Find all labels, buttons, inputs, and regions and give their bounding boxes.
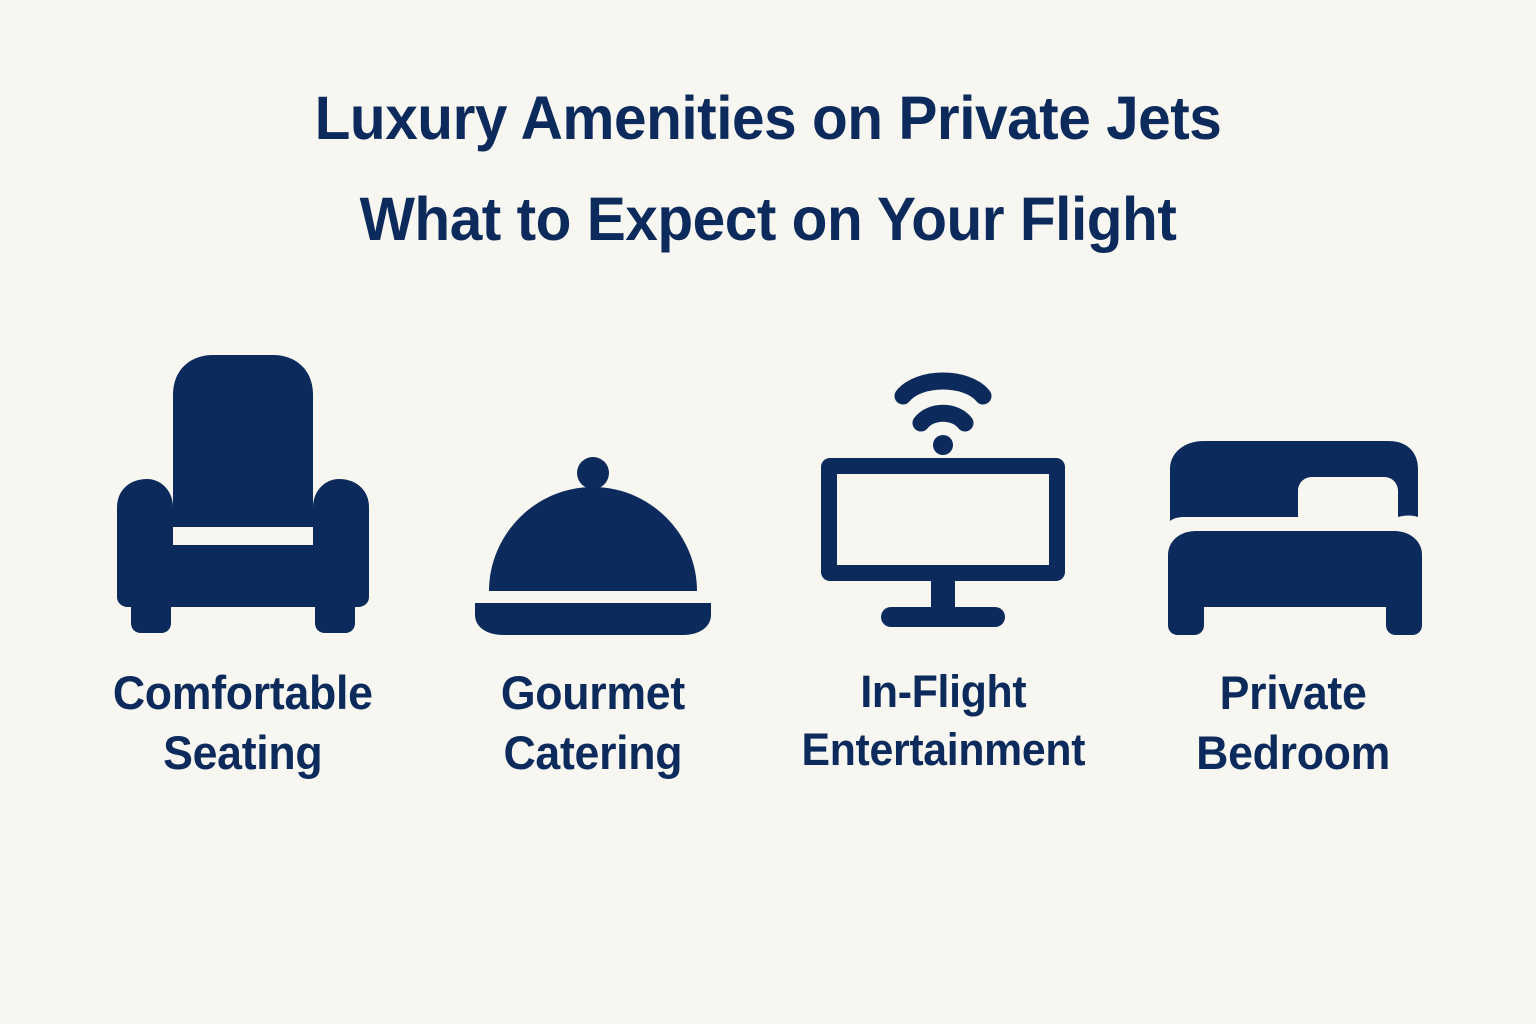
monitor-wifi-icon: [778, 335, 1108, 635]
amenity-label-gourmet-catering: Gourmet Catering: [501, 663, 685, 783]
cloche-food-dome-icon: [428, 335, 758, 635]
amenity-item-gourmet-catering: Gourmet Catering: [428, 335, 758, 783]
amenity-label-comfortable-seating: Comfortable Seating: [113, 663, 373, 783]
amenity-item-in-flight-entertainment: In-Flight Entertainment: [778, 335, 1108, 778]
amenity-item-private-bedroom: Private Bedroom: [1128, 335, 1458, 783]
page-title: Luxury Amenities on Private Jets What to…: [0, 0, 1536, 250]
amenity-label-private-bedroom: Private Bedroom: [1196, 663, 1390, 783]
infographic-root: Luxury Amenities on Private Jets What to…: [0, 0, 1536, 1024]
armchair-icon: [78, 335, 408, 635]
amenity-item-comfortable-seating: Comfortable Seating: [78, 335, 408, 783]
bed-icon: [1128, 335, 1458, 635]
amenities-row: Comfortable Seating Gourmet Catering: [78, 335, 1458, 783]
amenity-label-in-flight-entertainment: In-Flight Entertainment: [801, 663, 1085, 778]
title-line-secondary: What to Expect on Your Flight: [31, 189, 1506, 250]
title-line-primary: Luxury Amenities on Private Jets: [31, 88, 1506, 149]
